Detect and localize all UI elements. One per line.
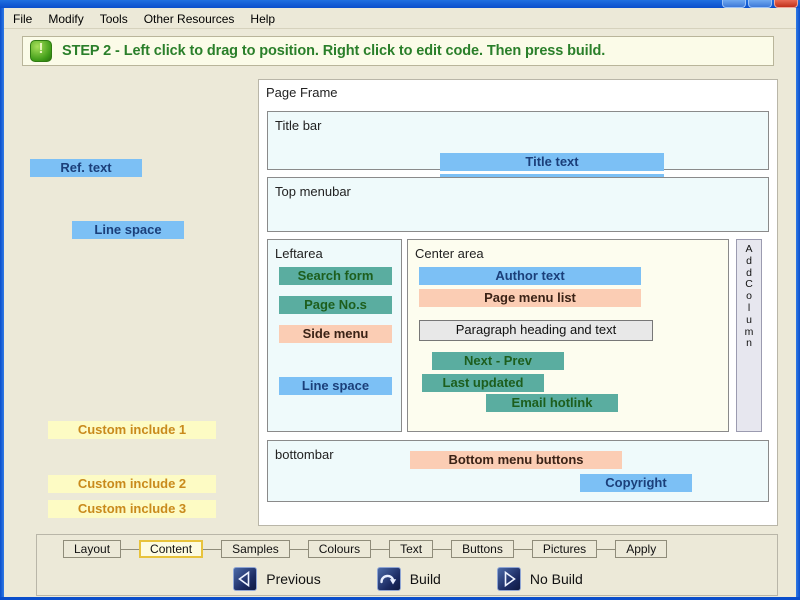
chip-side-menu[interactable]: Side menu <box>279 325 392 343</box>
palette-chip-custom-include-3[interactable]: Custom include 3 <box>48 500 216 518</box>
chip-title-text[interactable]: Title text <box>440 153 664 171</box>
chip-bottom-menu-buttons[interactable]: Bottom menu buttons <box>410 451 622 469</box>
chip-page-nos[interactable]: Page No.s <box>279 296 392 314</box>
maximize-button[interactable] <box>748 0 772 8</box>
region-bottombar[interactable]: bottombar Bottom menu buttons Copyright <box>267 440 769 502</box>
previous-label: Previous <box>266 571 320 587</box>
tab-apply[interactable]: Apply <box>615 540 667 558</box>
palette-chip-line-space[interactable]: Line space <box>72 221 184 239</box>
tab-separator <box>290 549 308 550</box>
menubar: File Modify Tools Other Resources Help <box>4 9 796 29</box>
region-leftarea-label: Leftarea <box>275 246 323 261</box>
chip-line-space[interactable]: Line space <box>279 377 392 395</box>
chip-email-hotlink[interactable]: Email hotlink <box>486 394 618 412</box>
triangle-left-icon <box>233 567 257 591</box>
menu-item-other-resources[interactable]: Other Resources <box>137 11 242 27</box>
palette-chip-custom-include-1[interactable]: Custom include 1 <box>48 421 216 439</box>
tab-separator <box>203 549 221 550</box>
page-frame-label: Page Frame <box>266 85 338 100</box>
chip-copyright[interactable]: Copyright <box>580 474 692 492</box>
region-center-area[interactable]: Center area Author text Page menu list P… <box>407 239 729 432</box>
tab-pictures[interactable]: Pictures <box>532 540 597 558</box>
chip-paragraph-heading-and-text[interactable]: Paragraph heading and text <box>419 320 653 341</box>
curved-arrow-icon <box>377 567 401 591</box>
region-center-area-label: Center area <box>415 246 484 261</box>
green-exclamation-icon <box>30 40 52 62</box>
previous-button[interactable]: Previous <box>233 567 320 591</box>
add-column-button[interactable]: A d d C o l u m n <box>736 239 762 432</box>
add-column-label: A d d C o l u m n <box>737 244 761 350</box>
palette-chip-custom-include-2[interactable]: Custom include 2 <box>48 475 216 493</box>
no-build-button[interactable]: No Build <box>497 567 583 591</box>
palette-chip-ref-text[interactable]: Ref. text <box>30 159 142 177</box>
region-title-bar[interactable]: Title bar Title text Summary text <box>267 111 769 170</box>
tab-separator <box>371 549 389 550</box>
region-title-bar-label: Title bar <box>275 118 321 133</box>
tab-separator <box>514 549 532 550</box>
window-border-right <box>796 8 800 600</box>
navigation-row: Previous Build No Build <box>37 563 779 595</box>
region-leftarea[interactable]: Leftarea Search form Page No.s Side menu… <box>267 239 402 432</box>
window-border-left <box>0 8 4 600</box>
window-titlebar <box>0 0 800 8</box>
window-controls <box>722 0 798 8</box>
menu-item-tools[interactable]: Tools <box>93 11 135 27</box>
chip-last-updated[interactable]: Last updated <box>422 374 544 392</box>
region-top-menubar-label: Top menubar <box>275 184 351 199</box>
tab-colours[interactable]: Colours <box>308 540 371 558</box>
tab-separator <box>121 549 139 550</box>
tab-content[interactable]: Content <box>139 540 203 558</box>
chip-author-text[interactable]: Author text <box>419 267 641 285</box>
tab-samples[interactable]: Samples <box>221 540 290 558</box>
step-instruction-banner: STEP 2 - Left click to drag to position.… <box>22 36 774 66</box>
chip-page-menu-list[interactable]: Page menu list <box>419 289 641 307</box>
build-label: Build <box>410 571 441 587</box>
bottom-control-panel: Layout Content Samples Colours Text Butt… <box>36 534 778 596</box>
close-button[interactable] <box>774 0 798 8</box>
no-build-label: No Build <box>530 571 583 587</box>
menu-item-help[interactable]: Help <box>243 11 282 27</box>
chip-search-form[interactable]: Search form <box>279 267 392 285</box>
region-top-menubar[interactable]: Top menubar Top menu buttons <box>267 177 769 232</box>
build-button[interactable]: Build <box>377 567 441 591</box>
tab-text[interactable]: Text <box>389 540 433 558</box>
minimize-button[interactable] <box>722 0 746 8</box>
region-bottombar-label: bottombar <box>275 447 334 462</box>
step-instruction-text: STEP 2 - Left click to drag to position.… <box>62 43 605 59</box>
tab-strip: Layout Content Samples Colours Text Butt… <box>37 539 779 559</box>
tab-separator <box>597 549 615 550</box>
chip-next-prev[interactable]: Next - Prev <box>432 352 564 370</box>
tab-layout[interactable]: Layout <box>63 540 121 558</box>
page-frame-panel: Page Frame Title bar Title text Summary … <box>258 79 778 526</box>
triangle-right-icon <box>497 567 521 591</box>
menu-item-modify[interactable]: Modify <box>41 11 90 27</box>
tab-separator <box>433 549 451 550</box>
tab-buttons[interactable]: Buttons <box>451 540 514 558</box>
menu-item-file[interactable]: File <box>6 11 39 27</box>
